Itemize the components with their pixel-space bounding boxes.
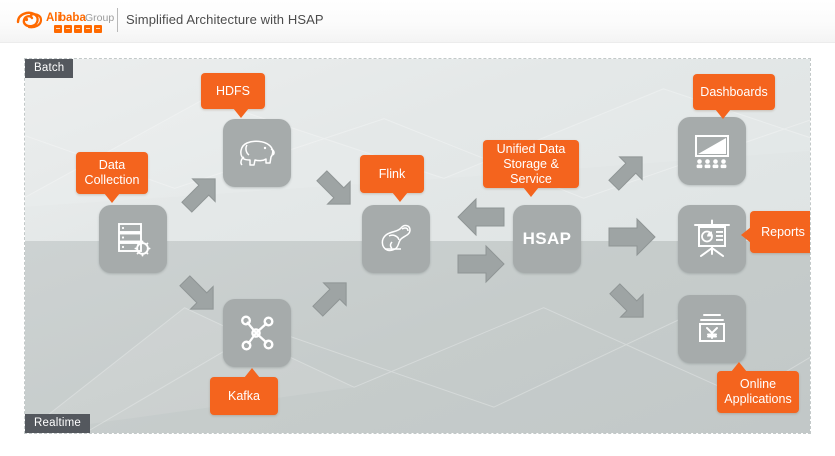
presentation-audience-icon <box>691 131 733 171</box>
flink-squirrel-icon <box>375 219 417 259</box>
callout-flink[interactable]: Flink <box>360 155 424 193</box>
node-data-collection[interactable] <box>99 205 167 273</box>
callout-label: Reports <box>761 225 805 240</box>
callout-tail-icon <box>523 187 539 197</box>
slide-canvas: Ali baba Group Simplified Arch <box>0 0 835 456</box>
callout-tail-icon <box>731 362 747 372</box>
node-dashboards[interactable] <box>678 117 746 185</box>
arrow-kafka-to-flink <box>306 271 358 323</box>
callout-tail-icon <box>104 193 120 203</box>
arrow-hdfs-to-flink <box>310 164 362 216</box>
svg-text:Group: Group <box>85 12 114 24</box>
callout-label: Flink <box>379 167 405 182</box>
hadoop-elephant-icon <box>234 133 280 173</box>
callout-unified-data-storage-service[interactable]: Unified Data Storage & Service <box>483 140 579 188</box>
arrow-hsap-to-flink <box>454 196 510 238</box>
arrow-flink-to-hsap <box>452 243 508 285</box>
arrow-hsap-to-apps <box>603 277 655 329</box>
callout-label: Data Collection <box>82 158 142 188</box>
callout-label: Dashboards <box>700 85 767 100</box>
callout-reports[interactable]: Reports <box>750 211 811 253</box>
callout-tail-icon <box>244 368 260 378</box>
callout-kafka[interactable]: Kafka <box>210 377 278 415</box>
callout-tail-icon <box>233 108 249 118</box>
arrow-collection-to-hdfs <box>175 167 227 219</box>
arrow-collection-to-kafka <box>173 269 225 321</box>
callout-tail-icon <box>741 227 751 243</box>
zone-label-batch: Batch <box>25 59 73 78</box>
callout-hdfs[interactable]: HDFS <box>201 73 265 109</box>
node-hsap[interactable]: HSAP <box>513 205 581 273</box>
server-rack-gear-icon <box>113 219 153 259</box>
callout-label: Online Applications <box>723 377 793 407</box>
svg-text:baba: baba <box>59 12 86 24</box>
callout-label: Unified Data Storage & Service <box>491 142 571 187</box>
yen-monitor-icon <box>692 309 732 349</box>
flipchart-piechart-icon <box>691 218 733 260</box>
kafka-nodes-icon <box>237 313 277 353</box>
callout-dashboards[interactable]: Dashboards <box>693 74 775 110</box>
callout-tail-icon <box>392 192 408 202</box>
arrow-hsap-to-dashboards <box>602 145 654 197</box>
node-kafka[interactable] <box>223 299 291 367</box>
page-title: Simplified Architecture with HSAP <box>126 12 324 27</box>
node-hdfs[interactable] <box>223 119 291 187</box>
callout-online-applications[interactable]: Online Applications <box>717 371 799 413</box>
alibaba-group-logo: Ali baba Group <box>14 6 114 36</box>
zone-label-realtime: Realtime <box>25 414 90 433</box>
architecture-diagram: Batch Realtime <box>24 58 811 434</box>
node-reports[interactable] <box>678 205 746 273</box>
header-divider <box>117 8 118 32</box>
callout-label: HDFS <box>216 84 250 99</box>
node-flink[interactable] <box>362 205 430 273</box>
slide-header: Ali baba Group Simplified Arch <box>0 0 835 43</box>
callout-tail-icon <box>715 109 731 119</box>
callout-label: Kafka <box>228 389 260 404</box>
arrow-hsap-to-reports <box>603 216 659 258</box>
node-online-applications[interactable] <box>678 295 746 363</box>
hsap-tile-label: HSAP <box>523 229 572 249</box>
callout-data-collection[interactable]: Data Collection <box>76 152 148 194</box>
